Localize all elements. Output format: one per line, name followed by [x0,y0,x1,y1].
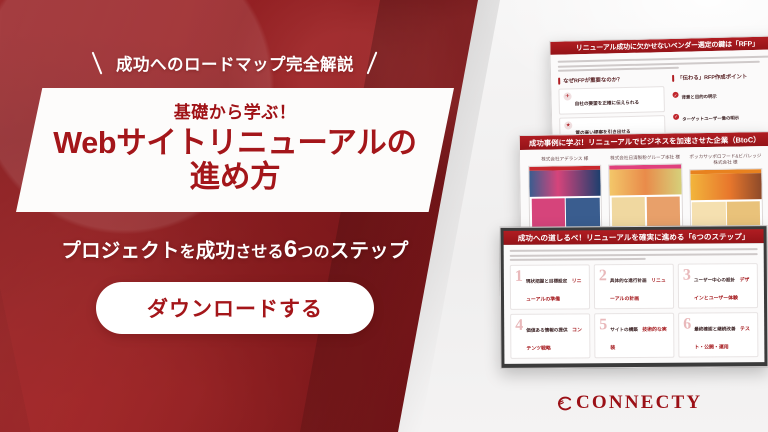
left-content: 成功へのロードマップ完全解説 基礎から学ぶ！ Webサイトリニューアルの 進め方… [0,0,470,432]
bullet-title: ターゲットユーザー像の明示 [682,115,739,121]
doc-rfp-bullet: ✓ 背景と目的の明示 [672,83,768,104]
case-caption: 株式会社日清製粉グループ本社 様 [608,154,681,161]
item-title: 自社の要望を正確に伝えられる [575,100,639,107]
title-eyebrow: 基礎から学ぶ！ [53,104,416,122]
site-hero [610,168,682,195]
subtitle-part-4: させる [235,244,284,261]
site-hero [690,173,762,200]
title-line-1: Webサイトリニューアルの [53,126,416,160]
doc-rfp-right-section-title: 「伝わる」RFP作成ポイント [672,71,768,82]
step-number: 5 [599,317,607,354]
step-card: 4 価値ある情報の提供 コンテンツ戦略 [510,313,590,359]
section-bar-icon [672,74,674,81]
section-label: なぜRFPが重要なのか？ [563,75,622,84]
step-number: 2 [599,268,607,305]
step-card: 2 具体的な進行計画 リニューアルの計画 [594,264,674,310]
step-number: 3 [683,268,691,305]
connecty-logo: CONNECTY [556,392,702,414]
bullet-title: 背景と目的の明示 [682,94,717,100]
step-card: 3 ユーザー中心の設計 デザインとユーザー体験 [678,263,758,309]
step-title: 具体的な進行計画 [610,278,647,283]
case-caption: 株式会社アデランス 様 [528,156,601,163]
case-caption: ポッカサッポロフード&ビバレッジ株式会社 様 [689,153,763,166]
step-number: 1 [515,269,523,306]
title-line-2: 進め方 [53,160,416,194]
step-number: 4 [515,318,523,355]
step-card: 5 サイトの構築 技術的な実装 [594,313,674,359]
document-preview-steps[interactable]: 成功への道しるべ！リニューアルを確実に進める「6つのステップ」 1 現状把握と目… [500,225,768,369]
site-hero [529,170,601,197]
step-title: 最終確認と継続改善 [694,326,735,331]
subtitle-part-2: を [180,244,196,261]
subtitle-step-count: 6 [284,236,298,263]
step-title: 価値ある情報の提供 [526,327,567,332]
doc-rfp-item: ✈ 自社の要望を正確に伝えられる [558,86,665,115]
subtitle: プロジェクトを成功させる6つのステップ [61,234,408,264]
connecty-c-mark-icon [556,395,573,412]
subtitle-part-5: つの [297,244,329,261]
slash-right-icon [366,50,379,76]
medal-icon: ★ [564,121,572,129]
steps-grid: 1 現状把握と目標設定 リニューアルの準備 2 具体的な進行計画 リニューアルの… [510,263,759,353]
step-title: サイトの構築 [610,327,638,332]
step-number: 6 [683,317,691,354]
title-block: 基礎から学ぶ！ Webサイトリニューアルの 進め方 [35,96,434,204]
slash-left-icon [91,50,104,76]
step-title: 現状把握と目標設定 [526,278,567,283]
rocket-icon: ✈ [563,92,571,100]
download-button[interactable]: ダウンロードする [96,282,374,334]
doc-rfp-lead [558,55,768,71]
connecty-logo-text: CONNECTY [576,392,702,414]
doc-steps-body: 1 現状把握と目標設定 リニューアルの準備 2 具体的な進行計画 リニューアルの… [504,243,765,364]
doc-steps-lead [510,248,758,261]
promo-banner: 成功へのロードマップ完全解説 基礎から学ぶ！ Webサイトリニューアルの 進め方… [0,0,768,432]
section-bar-icon [558,77,560,84]
subtitle-part-6: ステップ [330,240,409,262]
eyebrow-label: 成功へのロードマップ完全解説 [116,51,354,75]
step-card: 1 現状把握と目標設定 リニューアルの準備 [510,264,590,310]
step-card: 6 最終確認と継続改善 テスト・公開・運用 [678,312,758,358]
section-label: 「伝わる」RFP作成ポイント [677,72,747,82]
subtitle-part-3: 成功 [196,240,235,262]
doc-rfp-left-section-title: なぜRFPが重要なのか？ [558,74,664,85]
check-icon: ✓ [672,92,678,98]
step-title: ユーザー中心の設計 [694,277,735,282]
subtitle-part-1: プロジェクト [61,240,179,262]
doc-rfp-bullet: ✓ ターゲットユーザー像の明示 [673,105,768,126]
eyebrow-text: 成功へのロードマップ完全解説 [91,50,379,76]
check-icon: ✓ [673,113,679,119]
title-plate: 基礎から学ぶ！ Webサイトリニューアルの 進め方 [16,88,454,212]
